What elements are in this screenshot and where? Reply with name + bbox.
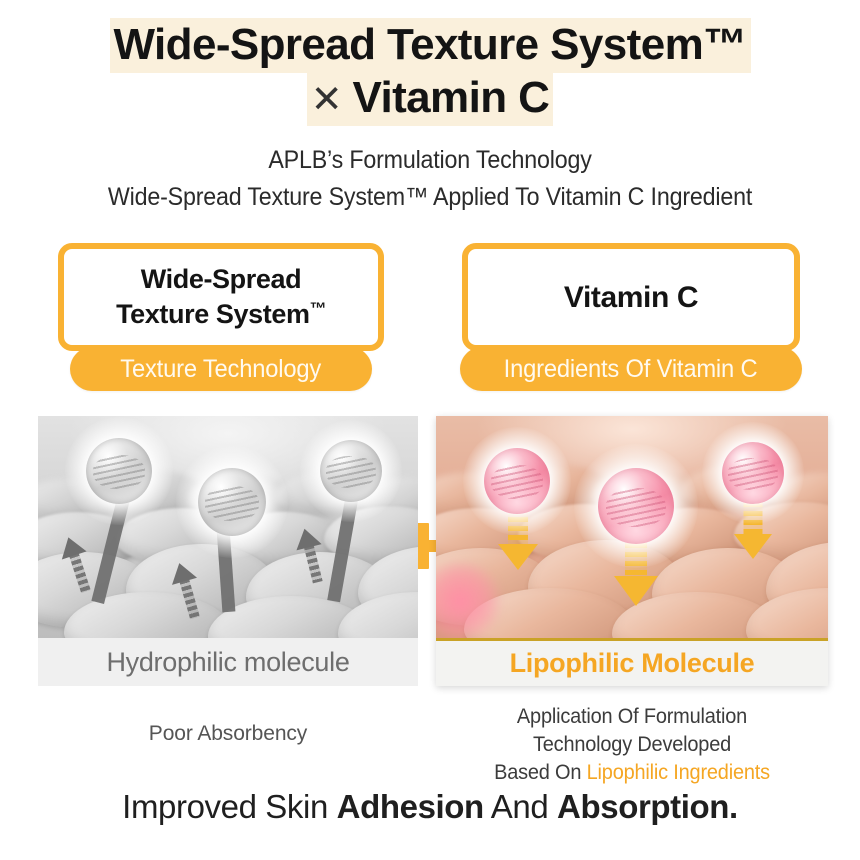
subtitle-line-1: APLB’s Formulation Technology	[30, 142, 830, 179]
lipophilic-caption-label: Lipophilic Molecule	[510, 648, 755, 679]
lipophilic-caption: Lipophilic Molecule	[436, 638, 828, 686]
footer-bold-absorption: Absorption	[557, 788, 729, 825]
lipophilic-note-line-2: Technology Developed	[446, 731, 818, 759]
trademark-icon: ™	[310, 299, 326, 318]
hydrophilic-photo	[38, 416, 418, 638]
formula-row: Texture Technology Wide-Spread Texture S…	[0, 240, 860, 400]
formula-box-vitamin-c: Ingredients Of Vitamin C Vitamin C	[462, 243, 800, 351]
vitamin-c-card: Vitamin C	[462, 243, 800, 351]
page-title: Wide-Spread Texture System™ ✕Vitamin C	[0, 22, 860, 121]
hydrophilic-droplet-3	[320, 440, 382, 502]
texture-technology-title-line-2: Texture System	[116, 299, 310, 329]
title-line-2-group: ✕Vitamin C	[307, 71, 554, 126]
footer-part-1: Improved Skin	[122, 788, 337, 825]
hydrophilic-droplet-2	[198, 468, 266, 536]
lipophilic-droplet-1	[484, 448, 550, 514]
vitamin-c-title: Vitamin C	[558, 278, 704, 317]
lipophilic-note-line-3-prefix: Based On	[494, 761, 587, 784]
footer-bold-adhesion: Adhesion	[337, 788, 484, 825]
hydrophilic-caption: Hydrophilic molecule	[38, 638, 418, 686]
hydrophilic-caption-label: Hydrophilic molecule	[106, 647, 349, 678]
footer-claim: Improved Skin Adhesion And Absorption.	[0, 788, 860, 826]
lipophilic-scene	[436, 416, 828, 638]
hydrophilic-note: Poor Absorbency	[38, 722, 418, 746]
infographic-page: Wide-Spread Texture System™ ✕Vitamin C A…	[0, 0, 860, 860]
lipophilic-note: Application Of Formulation Technology De…	[436, 703, 828, 787]
title-line-2: ✕Vitamin C	[0, 75, 860, 121]
multiply-icon: ✕	[311, 79, 353, 121]
title-line-1-text: Wide-Spread Texture System™	[110, 18, 751, 73]
formula-box-texture-technology: Texture Technology Wide-Spread Texture S…	[58, 243, 384, 351]
texture-technology-card: Wide-Spread Texture System™	[58, 243, 384, 351]
lipophilic-note-line-3: Based On Lipophilic Ingredients	[446, 759, 818, 787]
texture-technology-pill-label: Texture Technology	[121, 355, 322, 384]
texture-technology-title-line-1: Wide-Spread	[141, 264, 301, 294]
lipophilic-droplet-2	[598, 468, 674, 544]
lipophilic-photo	[436, 416, 828, 638]
hydrophilic-scene	[38, 416, 418, 638]
footer-part-3: .	[729, 788, 738, 825]
texture-technology-pill: Texture Technology	[70, 347, 372, 391]
hydrophilic-droplet-1	[86, 438, 152, 504]
subtitle-line-2: Wide-Spread Texture System™ Applied To V…	[30, 179, 830, 216]
vitamin-c-pill: Ingredients Of Vitamin C	[460, 347, 802, 391]
comparison-panels: Hydrophilic molecule	[0, 416, 860, 686]
title-line-1: Wide-Spread Texture System™	[0, 22, 860, 68]
lipophilic-note-line-1: Application Of Formulation	[446, 703, 818, 731]
vitamin-c-pill-label: Ingredients Of Vitamin C	[504, 355, 758, 384]
panel-hydrophilic: Hydrophilic molecule	[38, 416, 418, 686]
subtitle: APLB’s Formulation Technology Wide-Sprea…	[0, 142, 860, 215]
title-line-2-text: Vitamin C	[353, 73, 550, 122]
texture-technology-title: Wide-Spread Texture System™	[110, 262, 332, 332]
lipophilic-droplet-3	[722, 442, 784, 504]
lipophilic-note-line-3-highlight: Lipophilic Ingredients	[587, 761, 770, 784]
panel-lipophilic: Lipophilic Molecule	[436, 416, 828, 686]
footer-part-2: And	[484, 788, 557, 825]
